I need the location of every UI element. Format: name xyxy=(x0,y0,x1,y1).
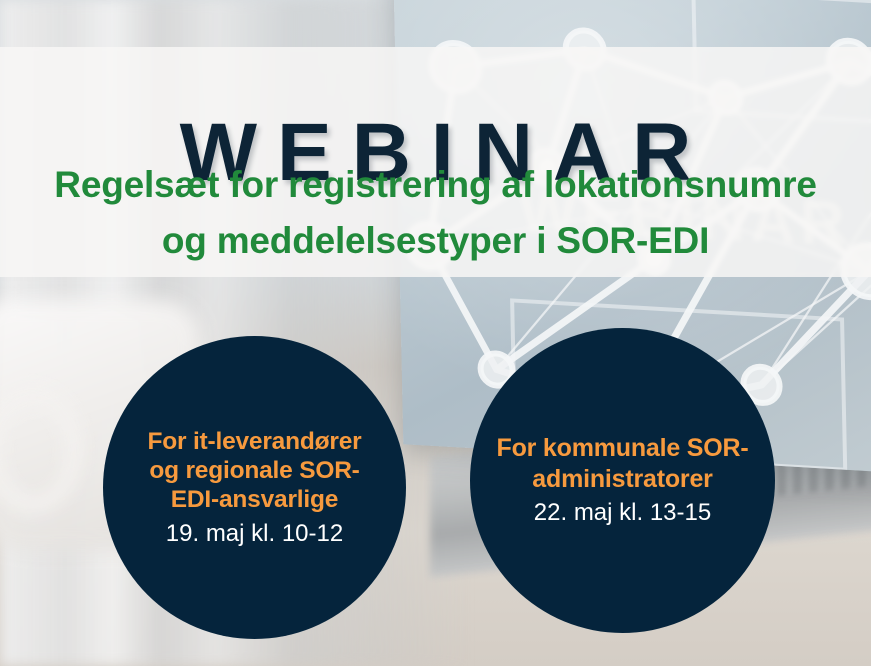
session-datetime: 22. maj kl. 13-15 xyxy=(534,498,711,528)
session-headline-line-3: EDI-ansvarlige xyxy=(147,485,361,514)
session-circle-kommunale-administratorer[interactable]: For kommunale SOR- administratorer 22. m… xyxy=(470,328,775,633)
session-headline-line-1: For it-leverandører xyxy=(147,427,361,456)
page-subtitle: Regelsæt for registrering af lokationsnu… xyxy=(0,157,871,269)
session-headline-line-2: og regionale SOR- xyxy=(147,456,361,485)
session-headline: For kommunale SOR- administratorer xyxy=(471,433,775,495)
subtitle-line-1: Regelsæt for registrering af lokationsnu… xyxy=(0,157,871,213)
session-headline-line-2: administratorer xyxy=(497,464,749,495)
session-headline: For it-leverandører og regionale SOR- ED… xyxy=(125,427,383,514)
webinar-poster: WEBINAR xyxy=(0,0,871,666)
subtitle-line-2: og meddelelsestyper i SOR-EDI xyxy=(0,213,871,269)
session-datetime: 19. maj kl. 10-12 xyxy=(166,519,343,549)
session-circle-it-leverandoerer[interactable]: For it-leverandører og regionale SOR- ED… xyxy=(103,336,406,639)
session-headline-line-1: For kommunale SOR- xyxy=(497,433,749,464)
